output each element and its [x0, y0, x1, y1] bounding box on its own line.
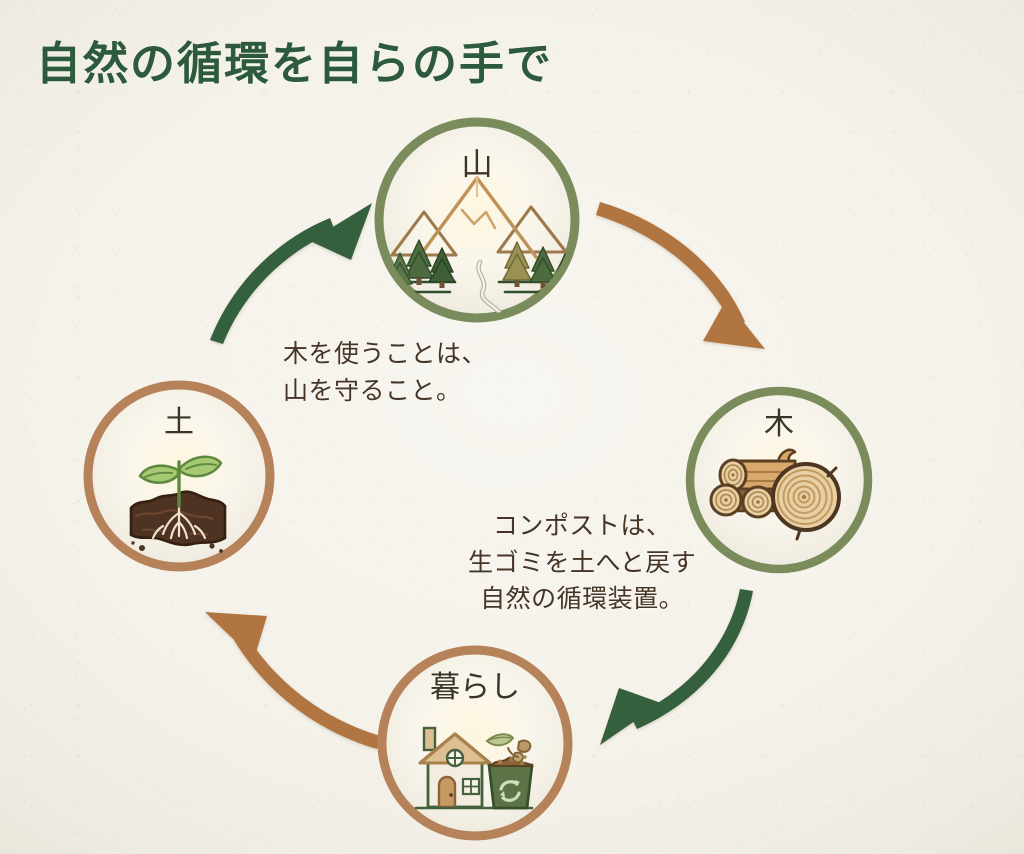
cycle-node-mountain[interactable]: 山 — [379, 122, 577, 318]
cycle-node-living[interactable]: 暮らし — [382, 650, 568, 836]
annotation-compost: コンポストは、 生ゴミを土へと戻す 自然の循環装置。 — [468, 508, 696, 618]
annotation-line: 自然の循環装置。 — [468, 581, 696, 618]
annotation-line: 生ゴミを土へと戻す — [468, 545, 696, 582]
soil-node-label: 土 — [164, 406, 194, 439]
sprout-in-soil-icon — [131, 457, 225, 553]
annotation-line: コンポストは、 — [468, 508, 696, 545]
mountain-node-label: 山 — [462, 147, 493, 182]
cycle-node-wood[interactable]: 木 — [690, 391, 868, 569]
annotation-wood-protects-mountain: 木を使うことは、 山を守ること。 — [283, 336, 487, 409]
cycle-node-soil[interactable]: 土 — [88, 385, 270, 567]
cycle-node-layer: 山 — [0, 0, 1024, 854]
infographic-canvas: 自然の循環を自らの手で — [0, 0, 1024, 854]
living-node-label: 暮らし — [430, 671, 520, 704]
annotation-line: 木を使うことは、 — [283, 336, 487, 373]
annotation-line: 山を守ること。 — [283, 373, 487, 410]
wood-node-label: 木 — [764, 408, 794, 441]
